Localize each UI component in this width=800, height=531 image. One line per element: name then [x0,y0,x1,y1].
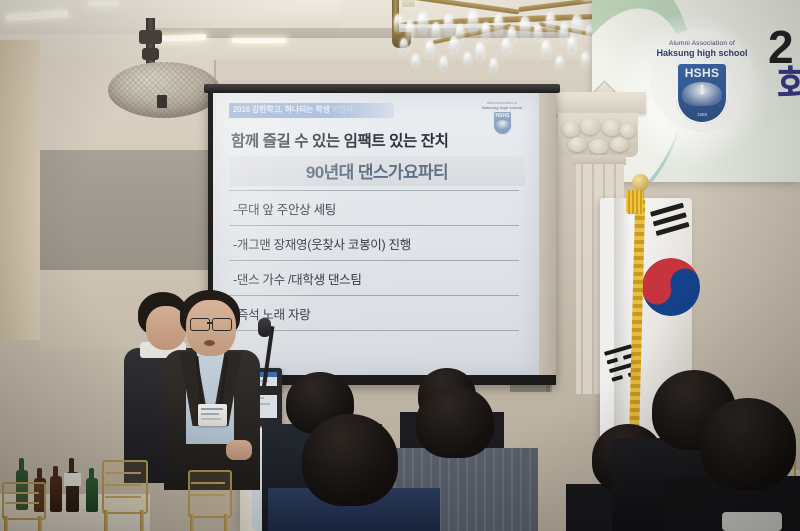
audience-head [302,414,398,506]
slide-bullet: -즉석 노래 자랑 [233,304,523,323]
eyeglasses-right-lens [212,318,232,331]
slide-divider [229,295,519,296]
projection-screen-housing [204,84,560,93]
slide-bullet: -무대 앞 주안상 세팅 [233,199,523,218]
bottle-neck [53,466,58,480]
speaker-joint [142,48,159,60]
beer-bottle [50,476,62,512]
slide-header-faded: 비전과 [332,105,353,114]
slide-bullet: -개그맨 장재영(웃찾사 코봉이) 진행 [233,234,523,253]
banner-logo-line2: Haksung high school [650,48,754,58]
bottle-neck [89,468,94,482]
audience-head [700,398,796,490]
slide-logo-line2: Haksung high school [480,105,524,110]
strip-light [232,38,286,43]
bottle-neck [19,458,24,474]
slide-divider [229,225,519,226]
eyeglasses-bridge [207,322,213,324]
column-abacus [550,92,646,114]
slide-logo-monogram: HSHS [493,113,512,119]
banner-logo-line1: Alumni Association of [654,40,750,47]
wall-left-panel [0,40,40,340]
name-badge-line [201,418,221,420]
banner-monogram: HSHS [676,66,728,80]
strip-light [88,1,118,6]
slide-bullet: -댄스 가수 /대학생 댄스팀 [233,269,523,288]
column-capital [558,113,638,157]
eyeglasses-left-lens [190,318,210,331]
name-badge-line [201,408,223,410]
slide-divider [229,190,519,191]
chiavari-chair [100,460,148,531]
flag-tassel [626,190,643,214]
flag-finial [632,174,649,191]
slide-divider [229,260,519,261]
slide-header-main: 2016 강한학고, 하나되는 학생 [233,105,330,114]
bottle-neck [37,468,42,482]
conference-photo: Alumni Association of Haksung high schoo… [0,0,800,531]
slide-subtitle: 90년대 댄스가요파티 [229,158,525,183]
presenter-hand [226,440,252,460]
bottle-label [64,473,81,486]
wall-recess [40,150,215,270]
microphone-head [258,318,271,337]
name-badge-line [201,413,219,415]
banner-year: 1969 [676,112,728,117]
slide-header-text: 2016 강한학고, 하나되는 학생 비전과 [233,104,391,115]
flag-fold-shadow [614,198,630,456]
beer-bottle [86,478,98,512]
screen-side-wall [539,93,556,375]
speaker-joint [139,30,162,44]
banner-numeral: 1 [676,82,728,99]
slide-logo-wings-icon [496,120,509,129]
microphone-base [258,386,282,395]
chiavari-chair [0,482,46,531]
speaker-badge [157,95,167,108]
slide-heading: 함께 즐길 수 있는 임팩트 있는 잔치 [231,129,527,151]
chiavari-chair [186,470,232,531]
banner-korean-text: 회 [772,64,800,103]
presenter-mouth [204,340,215,346]
audience-collar [722,512,782,531]
audience-head [416,386,494,458]
